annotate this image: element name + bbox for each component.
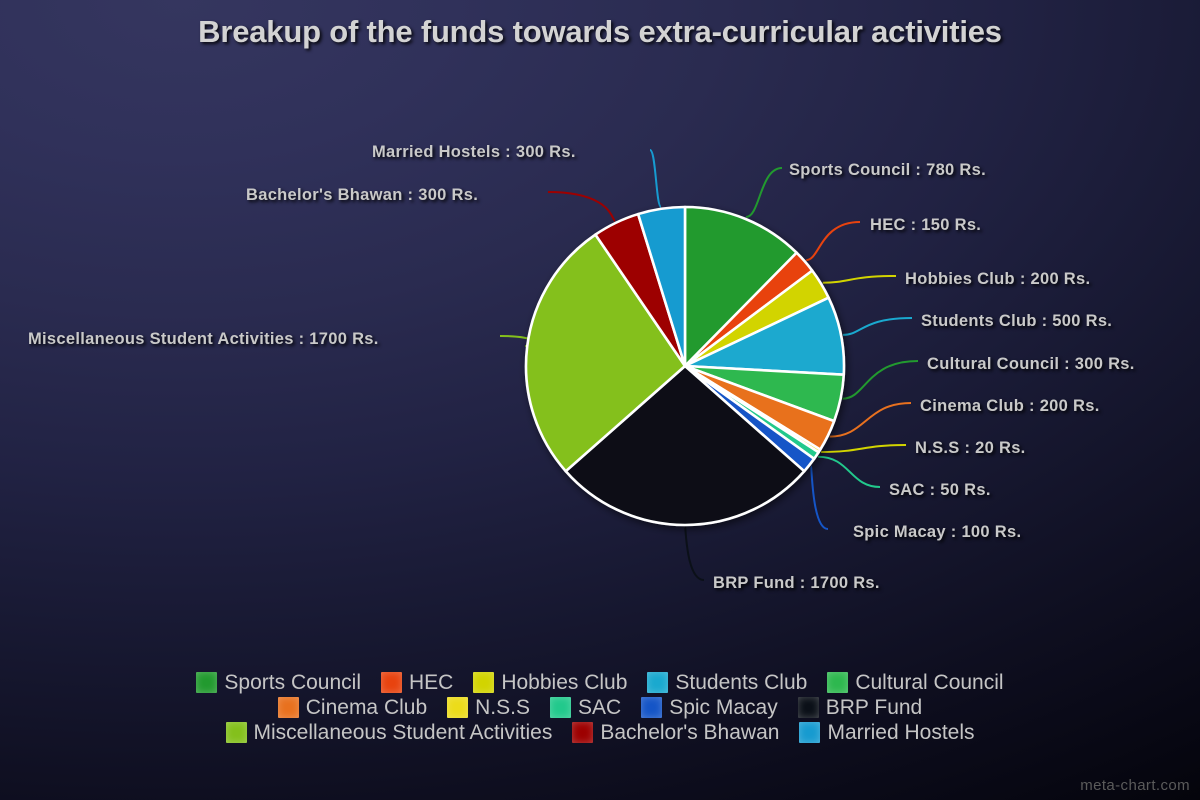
legend-item[interactable]: Bachelor's Bhawan [572,722,779,743]
callout-label: HEC : 150 Rs. [870,216,981,235]
chart-title: Breakup of the funds towards extra-curri… [0,14,1200,50]
pie-slice[interactable] [685,207,797,366]
legend-swatch-icon [226,722,247,743]
callout-label: SAC : 50 Rs. [889,481,991,500]
legend-label: HEC [409,672,453,693]
legend-item[interactable]: Married Hostels [799,722,974,743]
legend-label: Cultural Council [855,672,1003,693]
legend-swatch-icon [641,697,662,718]
leader-line [806,222,860,260]
callout-label: BRP Fund : 1700 Rs. [713,574,880,593]
legend-row: Miscellaneous Student ActivitiesBachelor… [226,722,975,743]
callout-label: Sports Council : 780 Rs. [789,161,986,180]
leader-line [811,466,828,529]
leader-line [843,318,912,335]
legend-row: Cinema ClubN.S.SSACSpic MacayBRP Fund [278,697,922,718]
chart-legend: Sports CouncilHECHobbies ClubStudents Cl… [0,672,1200,743]
legend-label: Students Club [675,672,807,693]
legend-label: BRP Fund [826,697,923,718]
legend-item[interactable]: N.S.S [447,697,530,718]
legend-swatch-icon [278,697,299,718]
legend-swatch-icon [572,722,593,743]
legend-label: Cinema Club [306,697,427,718]
legend-item[interactable]: Spic Macay [641,697,778,718]
legend-row: Sports CouncilHECHobbies ClubStudents Cl… [196,672,1003,693]
callout-label: Cultural Council : 300 Rs. [927,355,1135,374]
pie-slice[interactable] [685,366,819,459]
legend-item[interactable]: BRP Fund [798,697,923,718]
pie-slice[interactable] [685,271,829,366]
legend-swatch-icon [381,672,402,693]
callout-label: Students Club : 500 Rs. [921,312,1112,331]
callout-label: Miscellaneous Student Activities : 1700 … [28,330,379,349]
legend-swatch-icon [447,697,468,718]
pie-slice[interactable] [685,253,812,366]
legend-label: N.S.S [475,697,530,718]
callout-label: Cinema Club : 200 Rs. [920,397,1100,416]
leader-line [823,276,896,283]
callout-label: Bachelor's Bhawan : 300 Rs. [246,186,478,205]
pie-slice[interactable] [685,366,820,452]
pie-slice[interactable] [685,366,834,450]
callout-label: Married Hostels : 300 Rs. [372,143,576,162]
pie-slice[interactable] [638,207,685,366]
pie-slice[interactable] [526,235,685,472]
chart-canvas: Breakup of the funds towards extra-curri… [0,0,1200,800]
leader-line [746,168,782,217]
legend-item[interactable]: Cultural Council [827,672,1003,693]
legend-swatch-icon [550,697,571,718]
legend-label: Hobbies Club [501,672,627,693]
pie-slice[interactable] [595,214,685,366]
leader-line [548,192,615,221]
leader-line [650,150,661,207]
leader-line [500,336,534,346]
legend-item[interactable]: Miscellaneous Student Activities [226,722,553,743]
legend-label: Married Hostels [827,722,974,743]
legend-swatch-icon [473,672,494,693]
legend-label: Bachelor's Bhawan [600,722,779,743]
pie-slice[interactable] [685,298,844,375]
legend-swatch-icon [827,672,848,693]
leader-line [685,527,704,580]
legend-item[interactable]: Sports Council [196,672,361,693]
legend-item[interactable]: Hobbies Club [473,672,627,693]
callout-label: N.S.S : 20 Rs. [915,439,1026,458]
legend-swatch-icon [798,697,819,718]
legend-item[interactable]: Students Club [647,672,807,693]
legend-label: Sports Council [224,672,361,693]
pie-slice[interactable] [685,366,814,471]
callout-label: Spic Macay : 100 Rs. [853,523,1021,542]
watermark: meta-chart.com [1080,777,1190,794]
leader-line [818,457,880,487]
leader-line [830,403,911,437]
legend-label: SAC [578,697,621,718]
pie-slice[interactable] [566,366,804,525]
leader-line [821,445,906,452]
legend-swatch-icon [196,672,217,693]
legend-swatch-icon [799,722,820,743]
callout-label: Hobbies Club : 200 Rs. [905,270,1090,289]
pie-slices [526,207,844,525]
leader-lines [500,150,918,580]
legend-item[interactable]: Cinema Club [278,697,427,718]
legend-label: Spic Macay [669,697,778,718]
legend-item[interactable]: HEC [381,672,453,693]
legend-item[interactable]: SAC [550,697,621,718]
pie-slice[interactable] [685,366,844,421]
legend-swatch-icon [647,672,668,693]
leader-line [843,361,918,399]
legend-label: Miscellaneous Student Activities [254,722,553,743]
